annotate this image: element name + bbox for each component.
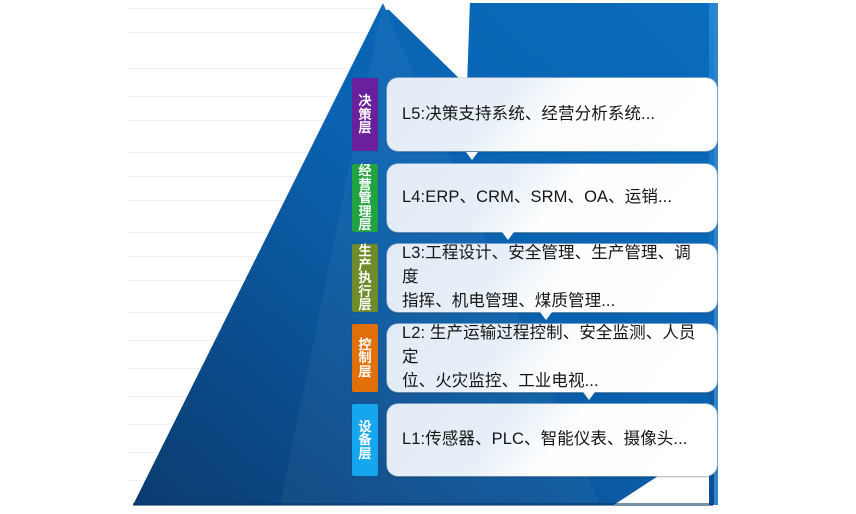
level-card-L2[interactable]: L2: 生产运输过程控制、安全监测、人员定 位、火灾监控、工业电视... — [387, 324, 717, 392]
level-row-L1: 设 备 层 L1:传感器、PLC、智能仪表、摄像头... — [352, 404, 717, 476]
connector-chevron-1 — [466, 152, 478, 160]
connector-chevron-3 — [540, 312, 552, 320]
level-row-L4: 经 营 管 理 层 L4:ERP、CRM、SRM、OA、运销... — [352, 164, 717, 232]
tier-tab-equipment[interactable]: 设 备 层 — [352, 404, 378, 476]
tier-char: 行 — [358, 285, 371, 299]
level-card-text-L1: L1:传感器、PLC、智能仪表、摄像头... — [402, 428, 688, 452]
tier-char: 营 — [358, 178, 371, 192]
level-row-L3: 生 产 执 行 层 L3:工程设计、安全管理、生产管理、调度 指挥、机电管理、煤… — [352, 244, 717, 312]
level-card-text-L2: L2: 生产运输过程控制、安全监测、人员定 位、火灾监控、工业电视... — [402, 324, 704, 392]
tier-tab-production-execution[interactable]: 生 产 执 行 层 — [352, 244, 378, 312]
card-line: 指挥、机电管理、煤质管理... — [402, 290, 704, 312]
slide-canvas: 决 策 层 L5:决策支持系统、经营分析系统... 经 营 管 理 层 — [0, 0, 856, 514]
card-line: 位、火灾监控、工业电视... — [402, 370, 704, 392]
tier-char: 产 — [358, 258, 371, 272]
tier-char: 生 — [358, 244, 371, 258]
level-card-text-L3: L3:工程设计、安全管理、生产管理、调度 指挥、机电管理、煤质管理... — [402, 244, 704, 312]
tier-char: 设 — [358, 420, 371, 434]
level-card-L3[interactable]: L3:工程设计、安全管理、生产管理、调度 指挥、机电管理、煤质管理... — [387, 244, 717, 312]
level-card-L5[interactable]: L5:决策支持系统、经营分析系统... — [387, 78, 717, 151]
pyramid-levels: 决 策 层 L5:决策支持系统、经营分析系统... 经 营 管 理 层 — [0, 0, 856, 514]
level-card-text-L4: L4:ERP、CRM、SRM、OA、运销... — [402, 186, 672, 210]
tier-char: 决 — [358, 94, 371, 108]
tier-char: 层 — [358, 447, 371, 461]
tier-char: 执 — [358, 271, 371, 285]
card-line: L5:决策支持系统、经营分析系统... — [402, 103, 655, 127]
level-row-L2: 控 制 层 L2: 生产运输过程控制、安全监测、人员定 位、火灾监控、工业电视.… — [352, 324, 717, 392]
level-card-L1[interactable]: L1:传感器、PLC、智能仪表、摄像头... — [387, 404, 717, 476]
tier-char: 管 — [358, 191, 371, 205]
tier-tab-decision[interactable]: 决 策 层 — [352, 78, 378, 151]
tier-char: 层 — [358, 121, 371, 135]
tier-tab-business-management[interactable]: 经 营 管 理 层 — [352, 164, 378, 232]
tier-char: 备 — [358, 433, 371, 447]
level-card-text-L5: L5:决策支持系统、经营分析系统... — [402, 103, 655, 127]
tier-char: 理 — [358, 205, 371, 219]
level-row-L5: 决 策 层 L5:决策支持系统、经营分析系统... — [352, 78, 717, 151]
tier-char: 策 — [358, 108, 371, 122]
tier-char: 层 — [358, 218, 371, 232]
tier-char: 制 — [358, 351, 371, 365]
card-line: L2: 生产运输过程控制、安全监测、人员定 — [402, 324, 704, 370]
connector-chevron-2 — [502, 232, 514, 240]
tier-tab-control[interactable]: 控 制 层 — [352, 324, 378, 392]
card-line: L3:工程设计、安全管理、生产管理、调度 — [402, 244, 704, 290]
tier-char: 控 — [358, 338, 371, 352]
level-card-L4[interactable]: L4:ERP、CRM、SRM、OA、运销... — [387, 164, 717, 232]
connector-chevron-4 — [583, 392, 595, 400]
tier-char: 层 — [358, 365, 371, 379]
card-line: L4:ERP、CRM、SRM、OA、运销... — [402, 186, 672, 210]
tier-char: 层 — [358, 298, 371, 312]
tier-char: 经 — [358, 164, 371, 178]
card-line: L1:传感器、PLC、智能仪表、摄像头... — [402, 428, 688, 452]
